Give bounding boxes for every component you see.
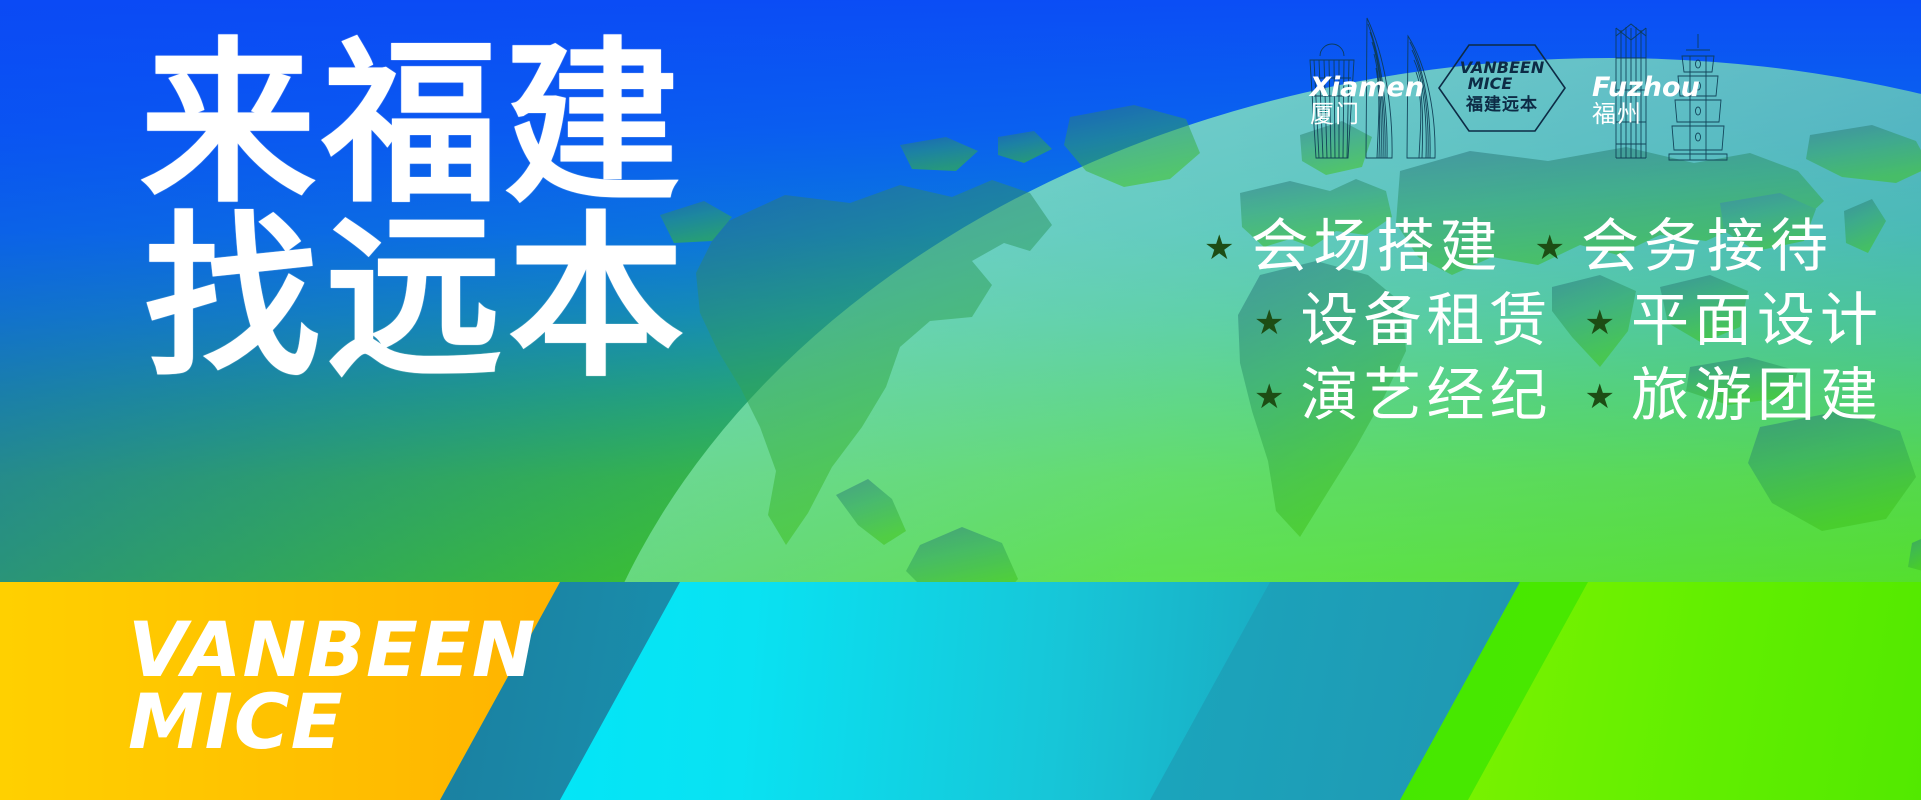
- service-item-tour-team-building[interactable]: ★ 旅游团建: [1585, 361, 1884, 429]
- city-name-en: Fuzhou: [1592, 74, 1700, 101]
- service-label: 平面设计: [1631, 286, 1883, 354]
- service-label: 会场搭建: [1250, 212, 1502, 280]
- city-name-cn: 福州: [1592, 101, 1700, 129]
- star-icon: ★: [1254, 306, 1284, 340]
- brand-line-2: MICE: [128, 686, 536, 758]
- bottom-brand-band: VANBEEN MICE: [0, 582, 1921, 800]
- hex-logo-line-cn: 福建远本: [1466, 95, 1538, 115]
- promotional-banner: 来福建 找远本 ★ 会场搭建 ★ 会务接待 ★ 设备租赁: [0, 0, 1921, 800]
- star-icon: ★: [1254, 380, 1284, 414]
- brand-wordmark: VANBEEN MICE: [128, 614, 536, 758]
- hex-logo-text: VANBEEN MICE 福建远本: [1436, 42, 1568, 134]
- hex-logo-line-2: MICE: [1468, 76, 1513, 93]
- service-row-2: ★ 设备租赁 ★ 平面设计: [1204, 286, 1883, 354]
- city-label-fuzhou: Fuzhou 福州: [1592, 74, 1700, 129]
- service-list: ★ 会场搭建 ★ 会务接待 ★ 设备租赁 ★ 平面设计: [1204, 212, 1883, 429]
- service-label: 会务接待: [1581, 212, 1833, 280]
- service-item-graphic-design[interactable]: ★ 平面设计: [1585, 286, 1884, 354]
- service-label: 演艺经纪: [1300, 361, 1552, 429]
- headline: 来福建 找远本: [140, 38, 690, 386]
- service-item-performance-agency[interactable]: ★ 演艺经纪: [1254, 361, 1553, 429]
- headline-line-1: 来福建: [140, 38, 690, 212]
- service-item-conference-reception[interactable]: ★ 会务接待: [1535, 212, 1834, 280]
- city-label-xiamen: Xiamen 厦门: [1310, 74, 1424, 129]
- city-name-en: Xiamen: [1310, 74, 1424, 101]
- vanbeen-hex-logo[interactable]: VANBEEN MICE 福建远本: [1436, 42, 1568, 134]
- banner-top-background: 来福建 找远本 ★ 会场搭建 ★ 会务接待 ★ 设备租赁: [0, 0, 1921, 582]
- service-item-equipment-rental[interactable]: ★ 设备租赁: [1254, 286, 1553, 354]
- service-label: 旅游团建: [1631, 361, 1883, 429]
- city-name-cn: 厦门: [1310, 101, 1424, 129]
- service-label: 设备租赁: [1300, 286, 1552, 354]
- service-row-3: ★ 演艺经纪 ★ 旅游团建: [1204, 361, 1883, 429]
- star-icon: ★: [1585, 306, 1615, 340]
- star-icon: ★: [1585, 380, 1615, 414]
- star-icon: ★: [1535, 231, 1565, 265]
- service-row-1: ★ 会场搭建 ★ 会务接待: [1204, 212, 1883, 280]
- service-item-venue-construction[interactable]: ★ 会场搭建: [1204, 212, 1503, 280]
- city-landmarks-cluster: Xiamen 厦门 Fuzhou 福州 VANBEEN MICE 福建远本: [1300, 0, 1760, 175]
- headline-line-2: 找远本: [144, 212, 690, 386]
- star-icon: ★: [1204, 231, 1234, 265]
